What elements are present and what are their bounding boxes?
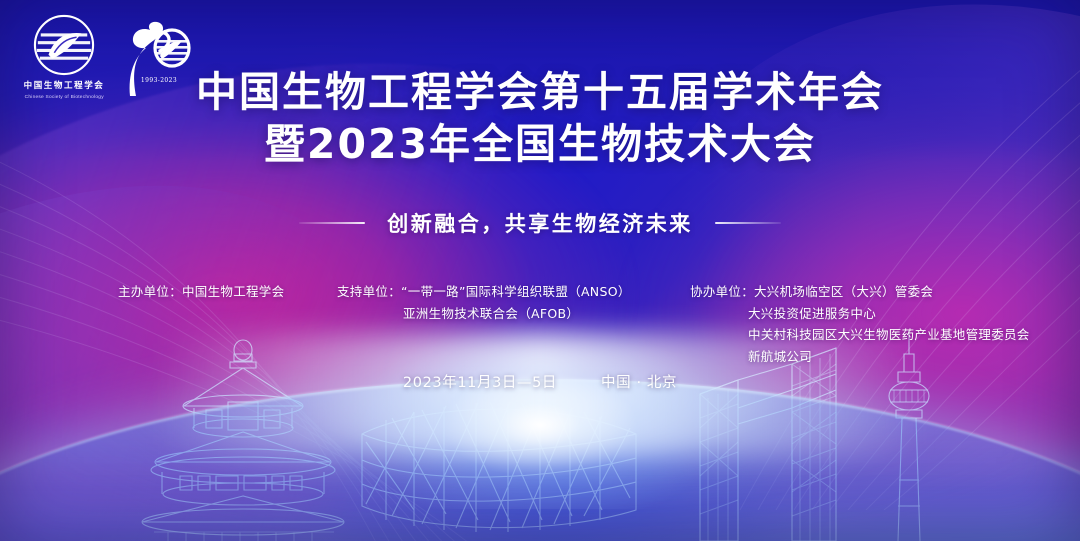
title-line-2: 暨2023年全国生物技术大会: [0, 118, 1080, 170]
co-organizer-line-1: 协办单位：大兴机场临空区（大兴）管委会: [690, 281, 1030, 303]
co-organizers: 协办单位：大兴机场临空区（大兴）管委会 大兴投资促进服务中心 中关村科技园区大兴…: [690, 281, 1030, 367]
conference-banner: 中国生物工程学会 Chinese Society of Biotechnolog…: [0, 0, 1080, 541]
event-date: 2023年11月3日—5日: [403, 371, 557, 392]
host-organizer: 主办单位：中国生物工程学会: [118, 281, 284, 303]
co-organizer-line-2: 大兴投资促进服务中心: [690, 303, 1030, 325]
event-meta-row: 2023年11月3日—5日 中国 · 北京: [0, 371, 1080, 392]
host-line-1: 主办单位：中国生物工程学会: [118, 281, 284, 303]
banner-content: 中国生物工程学会 Chinese Society of Biotechnolog…: [0, 0, 1080, 541]
slogan-rule-right: [715, 222, 781, 224]
title-line-1: 中国生物工程学会第十五届学术年会: [0, 66, 1080, 118]
co-organizer-line-3: 中关村科技园区大兴生物医药产业基地管理委员会: [690, 324, 1030, 346]
slogan-text: 创新融合，共享生物经济未来: [387, 208, 693, 238]
support-line-2: 亚洲生物技术联合会（AFOB）: [337, 303, 631, 325]
co-organizer-line-4: 新航城公司: [690, 346, 1030, 368]
banner-title: 中国生物工程学会第十五届学术年会 暨2023年全国生物技术大会: [0, 66, 1080, 171]
slogan-rule-left: [299, 222, 365, 224]
event-location: 中国 · 北京: [601, 371, 677, 392]
support-line-1: 支持单位：“一带一路”国际科学组织联盟（ANSO）: [337, 281, 631, 303]
slogan-row: 创新融合，共享生物经济未来: [0, 208, 1080, 238]
support-organizers: 支持单位：“一带一路”国际科学组织联盟（ANSO） 亚洲生物技术联合会（AFOB…: [337, 281, 631, 324]
